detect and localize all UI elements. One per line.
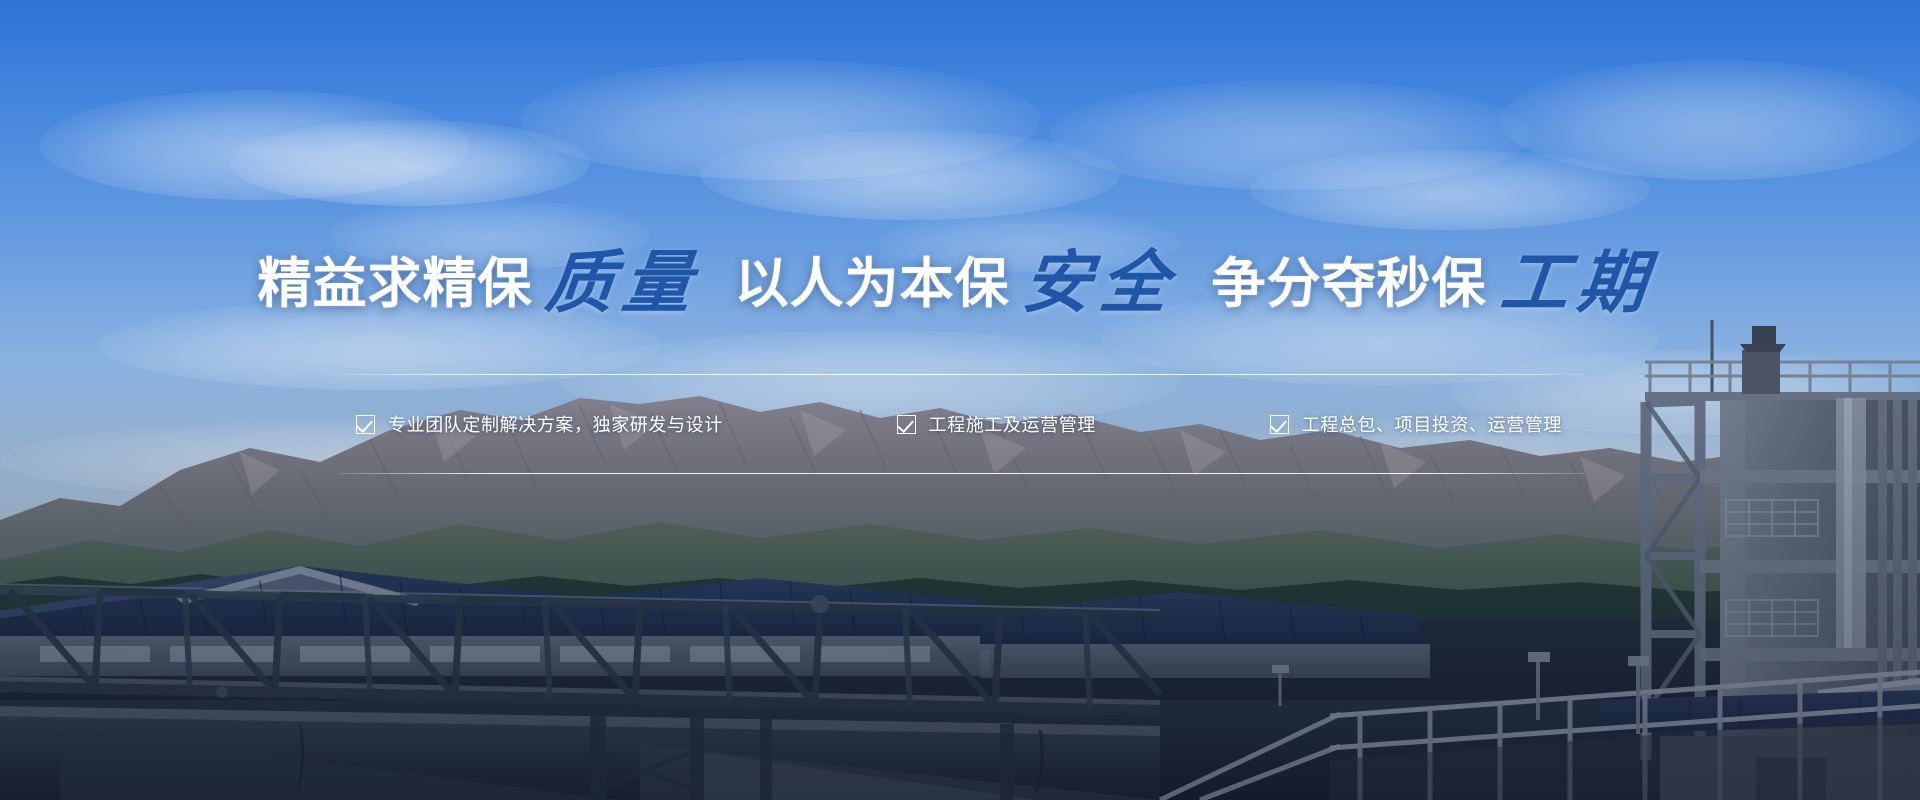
divider-top <box>338 374 1586 375</box>
feature-label-3: 工程总包、项目投资、运营管理 <box>1302 411 1562 437</box>
checkbox-checked-icon <box>356 415 375 434</box>
feature-item-3: 工程总包、项目投资、运营管理 <box>1270 411 1562 437</box>
feature-label-1: 专业团队定制解决方案，独家研发与设计 <box>388 411 723 437</box>
checkbox-checked-icon <box>1270 415 1289 434</box>
headline-accent-2: 安全 <box>1006 249 1189 317</box>
headline-segment-1: 精益求精保质量 <box>257 245 708 313</box>
divider-bottom <box>338 473 1586 474</box>
headline-segment-3: 争分夺秒保工期 <box>1212 245 1663 313</box>
feature-label-2: 工程施工及运营管理 <box>929 411 1096 437</box>
headline-segment-2: 以人为本保安全 <box>734 245 1185 313</box>
headline-accent-3: 工期 <box>1483 249 1666 317</box>
headline-accent-1: 质量 <box>529 249 712 317</box>
headline-plain-1: 精益求精保 <box>257 254 532 314</box>
feature-item-1: 专业团队定制解决方案，独家研发与设计 <box>356 411 723 437</box>
headline-plain-3: 争分夺秒保 <box>1212 254 1487 314</box>
feature-list: 专业团队定制解决方案，独家研发与设计 工程施工及运营管理 工程总包、项目投资、运… <box>338 399 1586 449</box>
headline: 精益求精保质量 以人为本保安全 争分夺秒保工期 <box>0 245 1920 313</box>
feature-item-2: 工程施工及运营管理 <box>897 411 1096 437</box>
headline-plain-2: 以人为本保 <box>734 254 1009 314</box>
banner-content: 精益求精保质量 以人为本保安全 争分夺秒保工期 专业团队定制解决方案，独家研发与… <box>0 0 1920 800</box>
hero-banner: 精益求精保质量 以人为本保安全 争分夺秒保工期 专业团队定制解决方案，独家研发与… <box>0 0 1920 800</box>
checkbox-checked-icon <box>897 415 916 434</box>
